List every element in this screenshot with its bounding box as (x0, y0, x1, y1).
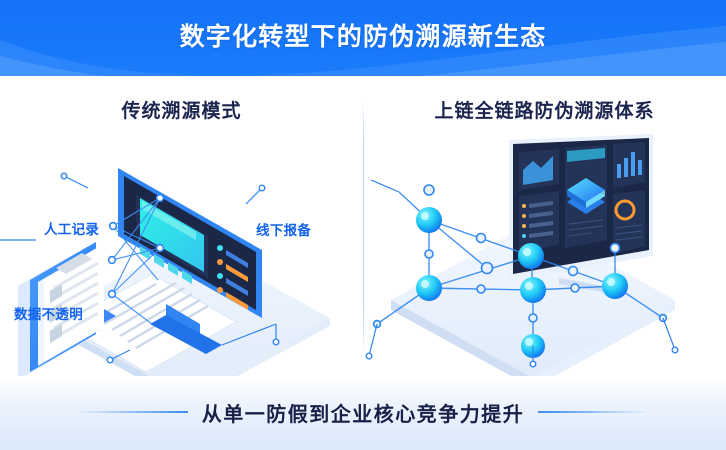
content-area: 传统溯源模式 (0, 76, 726, 376)
panel-title-traditional: 传统溯源模式 (0, 96, 363, 123)
footer-rule-right (538, 411, 648, 413)
label-opaque-data: 数据不透明 (14, 307, 83, 323)
panel-traditional: 传统溯源模式 (0, 76, 363, 376)
page-title: 数字化转型下的防伪溯源新生态 (0, 21, 726, 53)
panel-title-blockchain: 上链全链路防伪溯源体系 (363, 96, 726, 123)
label-offline-report: 线下报备 (256, 223, 311, 239)
illustration-blockchain (363, 128, 726, 376)
footer-rule-left (78, 411, 188, 413)
header-banner: 数字化转型下的防伪溯源新生态 (0, 0, 726, 76)
footer-banner: 从单一防假到企业核心竞争力提升 (0, 376, 726, 450)
infographic-poster: 数字化转型下的防伪溯源新生态 传统溯源模式 (0, 0, 726, 450)
footer-tagline: 从单一防假到企业核心竞争力提升 (202, 398, 525, 427)
blockchain-illustration-svg (363, 128, 726, 376)
label-manual-record: 人工记录 (44, 222, 99, 238)
illustration-traditional (0, 128, 363, 376)
panel-blockchain: 上链全链路防伪溯源体系 (363, 76, 726, 376)
traditional-illustration-svg (0, 128, 363, 376)
